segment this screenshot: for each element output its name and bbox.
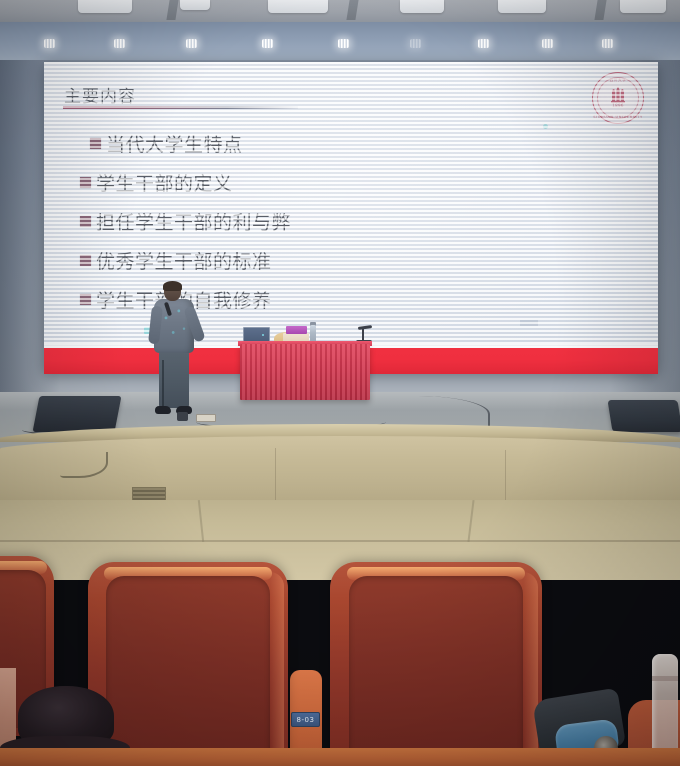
ceiling-light-panel [620,0,666,13]
ceiling-spotlight [478,39,489,48]
purple-sign [286,326,307,334]
ceiling-light-panel [498,0,546,13]
ceiling-light-panel [268,0,328,13]
ceiling-spotlight [186,39,197,48]
presenter-shoe [155,406,171,414]
screen-surface: 主要内容 当代大学生特点 学生干部的定义 担任学生干部的利与弊 优秀学生干部 [44,62,658,374]
seat-center-left [88,562,288,766]
stage-monitor-right [607,400,680,432]
floor-seam [0,540,680,542]
seat-cushion [349,576,523,758]
ceiling-spotlight [602,39,613,48]
presenter [148,282,202,422]
ceiling-light-panel [400,0,444,13]
ceiling-light-panel [180,0,210,10]
ceiling-spotlight [114,39,125,48]
ceiling-spotlight [338,39,349,48]
auditorium-photo: 主要内容 当代大学生特点 学生干部的定义 担任学生干部的利与弊 优秀学生干部 [0,0,680,766]
ceiling-spotlight [542,39,553,48]
floor-power-box [196,414,216,422]
screen-scanlines [44,62,658,374]
ceiling-spotlight [44,39,55,48]
stage-front-panel [0,436,680,508]
seat-number-label: 8-03 [297,716,315,724]
ceiling-spotlight [410,39,421,48]
bottle-label-band [652,676,678,681]
seat-number-plate: 8-03 [291,712,320,727]
seat-edge-highlight [523,572,538,758]
laptop-indicator [262,334,264,336]
red-draped-table [240,344,370,400]
seat-cushion [106,576,270,758]
ceiling-light-panel [78,0,132,13]
seat-armrest-rail [0,748,680,766]
seat-center-right [330,562,542,766]
presenter-hair [163,281,182,291]
projection-screen: 主要内容 当代大学生特点 学生干部的定义 担任学生干部的利与弊 优秀学生干部 [44,62,658,374]
floor-plug [177,412,188,421]
ceiling-spotlight [262,39,273,48]
stage-panel-seam [505,450,506,500]
stage-panel-seam [275,448,276,500]
presenter-leg-split [162,360,164,408]
seat-edge-highlight [270,572,284,758]
